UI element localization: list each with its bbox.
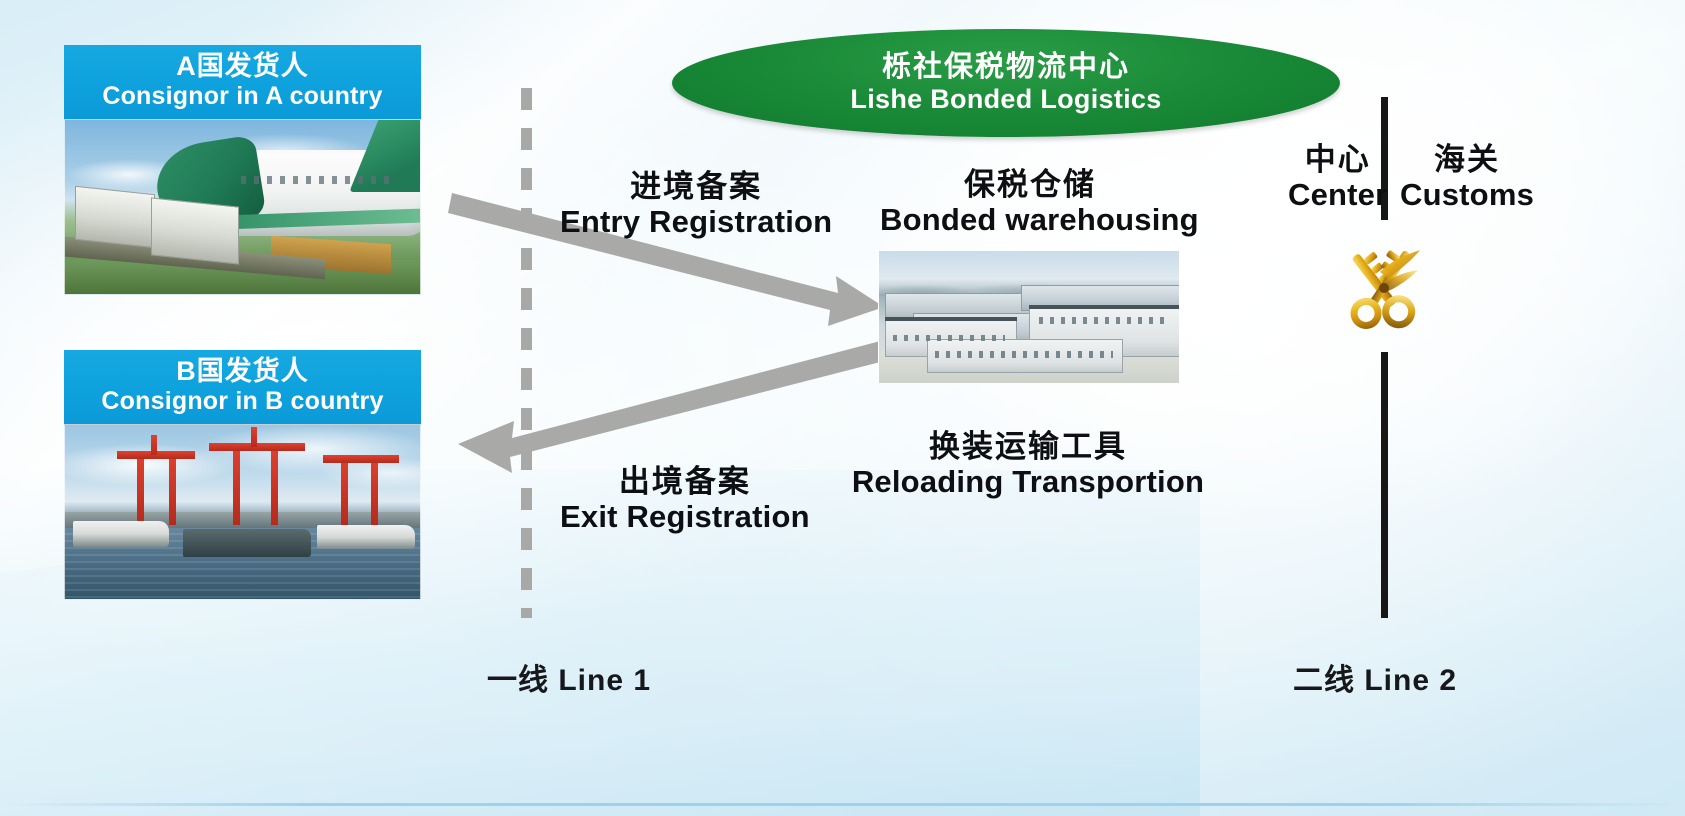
entry-registration-en: Entry Registration	[560, 205, 832, 240]
hub-title-cn: 栎社保税物流中心	[882, 51, 1130, 83]
air-cargo-plane-photo	[64, 119, 421, 295]
port-crane-leg	[137, 451, 144, 525]
exit-registration-en: Exit Registration	[560, 500, 810, 535]
port-crane-mast	[151, 435, 157, 455]
customs-label-en: Customs	[1400, 178, 1534, 213]
consignor-b-header: B国发货人 Consignor in B country	[64, 350, 421, 424]
sky-clouds	[65, 425, 420, 505]
diagram-canvas: A国发货人 Consignor in A country B国发货人 Consi…	[0, 0, 1685, 816]
bottom-divider	[0, 803, 1685, 806]
cargo-container-2	[151, 198, 239, 265]
line-1-dashed-boundary	[521, 88, 532, 618]
customs-label: 海关 Customs	[1400, 143, 1534, 212]
line-2-solid-boundary-bottom	[1381, 352, 1388, 618]
port-crane-leg	[169, 451, 176, 525]
line-1-tag: 一线 Line 1	[487, 655, 651, 699]
bonded-warehouse-photo	[878, 250, 1180, 384]
consignor-b-label-cn: B国发货人	[68, 356, 417, 387]
seaport-photo	[64, 424, 421, 600]
port-crane-arm	[323, 455, 399, 463]
port-crane-arm	[209, 443, 305, 451]
port-crane-leg	[271, 443, 278, 525]
warehouse-trim	[1029, 305, 1180, 309]
docked-ship-dark	[183, 529, 311, 557]
consignor-b-label-en: Consignor in B country	[68, 387, 417, 416]
aircraft-windows	[241, 176, 391, 184]
hub-title-en: Lishe Bonded Logistics	[850, 84, 1161, 115]
bonded-warehousing-cn: 保税仓储	[880, 168, 1180, 203]
center-label-cn: 中心	[1288, 143, 1387, 178]
customs-key-emblem	[1322, 232, 1442, 344]
golden-key-icon	[1322, 232, 1442, 344]
port-crane-mast	[251, 427, 257, 447]
center-label-en: Center	[1288, 178, 1387, 213]
reloading-transportation-cn: 换装运输工具	[838, 430, 1218, 465]
warehouse-trim	[885, 317, 1017, 321]
consignor-a-label-cn: A国发货人	[68, 51, 417, 82]
warehouse-windows	[935, 351, 1113, 358]
customs-label-cn: 海关	[1400, 143, 1534, 178]
reloading-transportation-en: Reloading Transportion	[838, 465, 1218, 500]
center-label: 中心 Center	[1288, 143, 1387, 212]
consignor-a-label-en: Consignor in A country	[68, 82, 417, 111]
consignor-a-header: A国发货人 Consignor in A country	[64, 45, 421, 119]
docked-ship-white	[317, 525, 415, 549]
port-crane-leg	[371, 455, 378, 525]
reloading-transportation-label: 换装运输工具 Reloading Transportion	[838, 430, 1218, 499]
docked-ship-white	[73, 521, 169, 547]
exit-registration-label: 出境备案 Exit Registration	[560, 465, 810, 534]
bonded-warehousing-en: Bonded warehousing	[880, 203, 1180, 238]
port-crane-leg	[233, 443, 240, 525]
cargo-container-1	[75, 186, 155, 248]
entry-registration-cn: 进境备案	[560, 170, 832, 205]
port-crane-leg	[341, 455, 348, 525]
bonded-logistics-center-badge: 栎社保税物流中心 Lishe Bonded Logistics	[672, 29, 1340, 137]
entry-registration-label: 进境备案 Entry Registration	[560, 170, 832, 239]
bonded-warehousing-label: 保税仓储 Bonded warehousing	[880, 168, 1180, 237]
exit-registration-cn: 出境备案	[560, 465, 810, 500]
consignor-card-b: B国发货人 Consignor in B country	[64, 350, 421, 600]
warehouse-windows	[1039, 317, 1171, 324]
consignor-card-a: A国发货人 Consignor in A country	[64, 45, 421, 295]
line-2-tag: 二线 Line 2	[1293, 655, 1457, 699]
warehouse-windows	[893, 335, 1005, 341]
